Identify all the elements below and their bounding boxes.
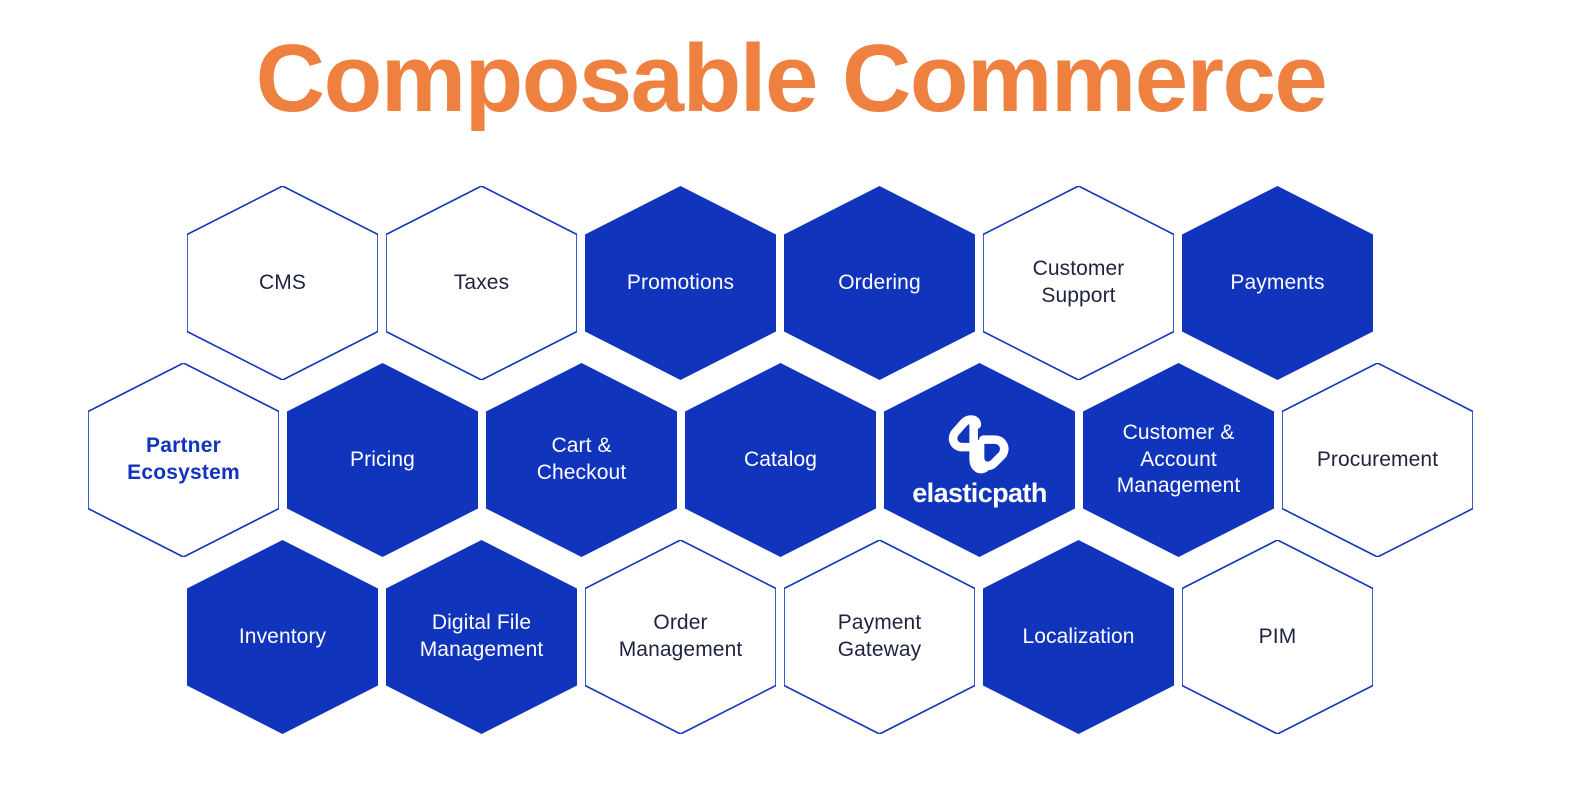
- hexagon-shape: [585, 186, 776, 380]
- hexagon-shape: [983, 186, 1174, 380]
- hexagon-shape: [386, 186, 577, 380]
- hexagon-shape: [386, 540, 577, 734]
- hexagon-shape: [287, 363, 478, 557]
- hexagon-shape: [1083, 363, 1274, 557]
- hex-cell-order-management[interactable]: OrderManagement: [585, 540, 776, 734]
- hexagon-shape: [1182, 540, 1373, 734]
- elasticpath-logo-mark-icon: [944, 414, 1014, 476]
- hex-cell-payments[interactable]: Payments: [1182, 186, 1373, 380]
- hexagon-grid: CMSTaxesPromotionsOrderingCustomerSuppor…: [0, 0, 1582, 812]
- hexagon-shape: [983, 540, 1174, 734]
- elasticpath-wordmark: elasticpath: [912, 480, 1046, 507]
- hex-cell-pim[interactable]: PIM: [1182, 540, 1373, 734]
- hexagon-shape: [784, 186, 975, 380]
- hexagon-shape: [88, 363, 279, 557]
- hex-cell-partner-ecosystem[interactable]: PartnerEcosystem: [88, 363, 279, 557]
- hexagon-shape: [486, 363, 677, 557]
- hexagon-shape: [187, 540, 378, 734]
- hex-cell-customer-account-management[interactable]: Customer &AccountManagement: [1083, 363, 1274, 557]
- hexagon-shape: [585, 540, 776, 734]
- hex-cell-localization[interactable]: Localization: [983, 540, 1174, 734]
- hex-cell-inventory[interactable]: Inventory: [187, 540, 378, 734]
- hex-cell-procurement[interactable]: Procurement: [1282, 363, 1473, 557]
- hex-cell-cms[interactable]: CMS: [187, 186, 378, 380]
- hex-cell-cart-checkout[interactable]: Cart &Checkout: [486, 363, 677, 557]
- hex-cell-elasticpath[interactable]: elasticpath: [884, 363, 1075, 557]
- hexagon-shape: [187, 186, 378, 380]
- hex-cell-payment-gateway[interactable]: PaymentGateway: [784, 540, 975, 734]
- hexagon-shape: [1282, 363, 1473, 557]
- hexagon-shape: [685, 363, 876, 557]
- hex-cell-digital-file-management[interactable]: Digital FileManagement: [386, 540, 577, 734]
- hex-cell-taxes[interactable]: Taxes: [386, 186, 577, 380]
- hex-cell-promotions[interactable]: Promotions: [585, 186, 776, 380]
- hexagon-shape: [784, 540, 975, 734]
- diagram-canvas: Composable Commerce CMSTaxesPromotionsOr…: [0, 0, 1582, 812]
- hex-cell-catalog[interactable]: Catalog: [685, 363, 876, 557]
- hex-cell-customer-support[interactable]: CustomerSupport: [983, 186, 1174, 380]
- hex-cell-pricing[interactable]: Pricing: [287, 363, 478, 557]
- hexagon-shape: [1182, 186, 1373, 380]
- hex-cell-ordering[interactable]: Ordering: [784, 186, 975, 380]
- elasticpath-logo: elasticpath: [912, 414, 1046, 507]
